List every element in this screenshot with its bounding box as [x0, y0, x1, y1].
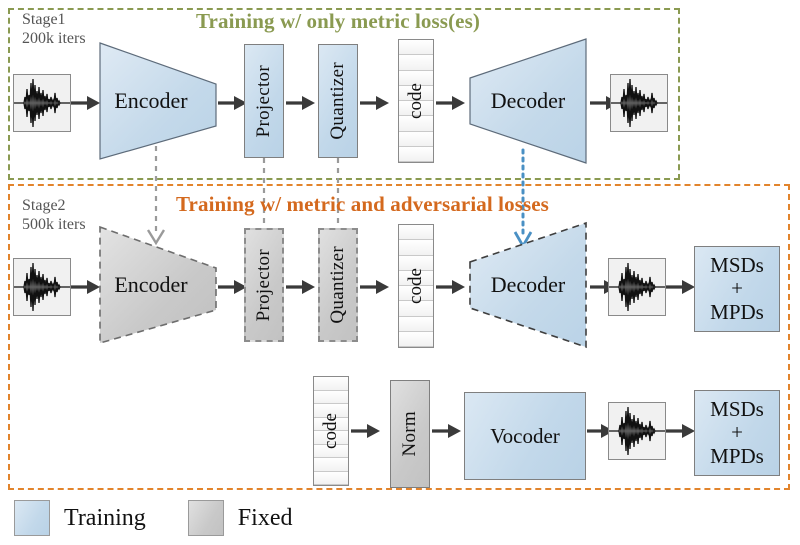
norm-block: Norm: [390, 380, 430, 488]
code-cell: [314, 391, 348, 405]
disc-msds-label: MSDs: [710, 254, 764, 278]
stage2-projector-label: Projector: [253, 249, 275, 321]
arrow-s2-quantizer-to-code: [360, 278, 390, 296]
disc-msds-label: MSDs: [710, 398, 764, 422]
legend: Training Fixed: [14, 500, 320, 536]
code-cell: [399, 317, 433, 332]
disc-mpds-label: MPDs: [710, 445, 764, 469]
code-cell: [399, 40, 433, 55]
arrow-code-to-norm: [351, 422, 381, 440]
disc-mpds-label: MPDs: [710, 301, 764, 325]
code-cell: [399, 147, 433, 162]
arrow-s1-projector-to-quantizer: [286, 94, 316, 112]
code-cell: [314, 458, 348, 472]
arrow-s1-quantizer-to-code: [360, 94, 390, 112]
stage1-output-waveform: [610, 74, 668, 132]
stage2-input-waveform: [13, 258, 71, 316]
vocoder-label: Vocoder: [490, 424, 560, 449]
stage1-code-stack: code: [398, 39, 434, 163]
stage2-encoder-label: Encoder: [92, 272, 210, 298]
code-cell: [314, 472, 348, 486]
stage2-name: Stage2: [22, 196, 86, 215]
vocoder-code-stack: code: [313, 376, 349, 486]
code-cell: [399, 332, 433, 347]
stage2-quantizer-label: Quantizer: [327, 246, 349, 324]
stage1-quantizer-label: Quantizer: [327, 62, 349, 140]
stage1-encoder-label: Encoder: [92, 88, 210, 114]
arrow-s2-projector-to-quantizer: [286, 278, 316, 296]
code-cell: [399, 240, 433, 255]
stage2-decoder: Decoder: [466, 222, 590, 348]
stage1-iters: 200k iters: [22, 29, 86, 48]
vocoder-code-label: code: [320, 413, 342, 449]
stage1-name: Stage1: [22, 10, 86, 29]
arrow-s2-code-to-decoder: [436, 278, 466, 296]
stage1-quantizer: Quantizer: [318, 44, 358, 158]
code-cell: [399, 55, 433, 70]
norm-label: Norm: [399, 411, 421, 457]
arrow-vocoder-output-to-discriminator: [666, 422, 696, 440]
stage1-encoder: Encoder: [96, 42, 218, 160]
arrow-norm-to-vocoder: [432, 422, 462, 440]
code-cell: [399, 132, 433, 147]
stage2-discriminator-row1: MSDs + MPDs: [694, 246, 780, 332]
legend-fixed-label: Fixed: [238, 505, 293, 532]
stage1-input-waveform: [13, 74, 71, 132]
stage2-decoder-label: Decoder: [470, 272, 586, 298]
legend-training-swatch: [14, 500, 50, 536]
vocoder-block: Vocoder: [464, 392, 586, 480]
stage1-decoder-label: Decoder: [470, 88, 586, 114]
stage2-title: Training w/ metric and adversarial losse…: [176, 192, 549, 217]
stage1-code-label: code: [405, 83, 427, 119]
stage1-projector-label: Projector: [253, 65, 275, 137]
code-cell: [399, 225, 433, 240]
arrow-s2-output-to-discriminator: [666, 278, 696, 296]
disc-plus-label: +: [731, 277, 743, 301]
vocoder-output-waveform: [608, 402, 666, 460]
arrow-s1-code-to-decoder: [436, 94, 466, 112]
stage2-encoder: Encoder: [96, 226, 218, 344]
stage2-label: Stage2 500k iters: [22, 196, 86, 234]
legend-training-label: Training: [64, 505, 146, 532]
stage2-code-label: code: [405, 268, 427, 304]
stage1-label: Stage1 200k iters: [22, 10, 86, 48]
stage1-decoder: Decoder: [466, 38, 590, 164]
stage2-iters: 500k iters: [22, 215, 86, 234]
stage2-quantizer: Quantizer: [318, 228, 358, 342]
code-cell: [314, 377, 348, 391]
stage1-projector: Projector: [244, 44, 284, 158]
stage2-output-waveform: [608, 258, 666, 316]
stage1-title: Training w/ only metric loss(es): [196, 9, 480, 34]
stage2-discriminator-row2: MSDs + MPDs: [694, 390, 780, 476]
stage2-code-stack: code: [398, 224, 434, 348]
legend-fixed-swatch: [188, 500, 224, 536]
disc-plus-label: +: [731, 421, 743, 445]
stage2-projector: Projector: [244, 228, 284, 342]
